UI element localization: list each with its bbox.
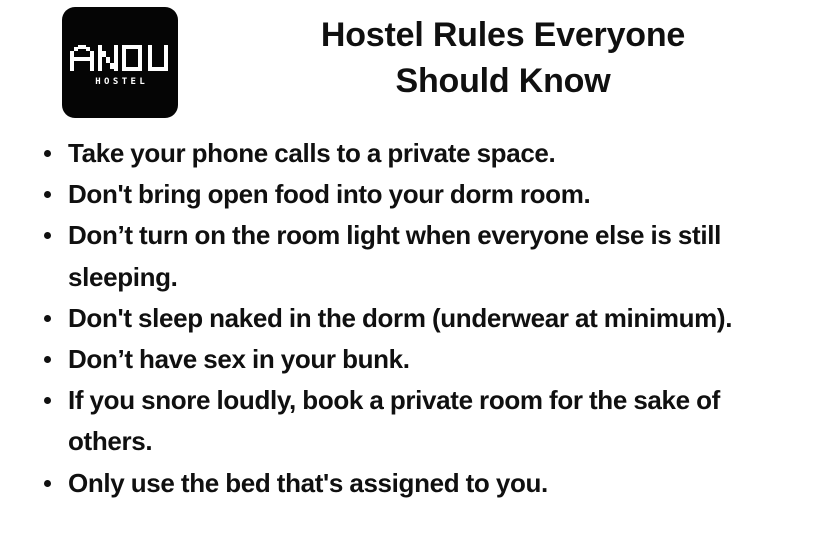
rule-text: Don't bring open food into your dorm roo… xyxy=(68,174,810,215)
rule-list-item: Only use the bed that's assigned to you. xyxy=(40,463,810,504)
anou-hostel-logo: HOSTEL xyxy=(62,7,178,118)
rule-text: Don't sleep naked in the dorm (underwear… xyxy=(68,298,810,339)
page-title-line-1: Hostel Rules Everyone xyxy=(186,12,820,58)
bullet-icon xyxy=(44,150,51,157)
rule-text: Take your phone calls to a private space… xyxy=(68,133,810,174)
rule-text: If you snore loudly, book a private room… xyxy=(68,380,810,462)
bullet-icon xyxy=(44,315,51,322)
rule-list-item: If you snore loudly, book a private room… xyxy=(40,380,810,462)
bullet-icon xyxy=(44,356,51,363)
bullet-icon xyxy=(44,232,51,239)
rule-list-item: Take your phone calls to a private space… xyxy=(40,133,810,174)
bullet-icon xyxy=(44,480,51,487)
anou-wordmark-icon xyxy=(70,45,170,71)
rule-text: Don’t have sex in your bunk. xyxy=(68,339,810,380)
page-title-line-2: Should Know xyxy=(186,58,820,104)
page-title: Hostel Rules Everyone Should Know xyxy=(186,12,820,104)
header: HOSTEL Hostel Rules Everyone Should Know xyxy=(0,0,820,126)
logo-subtitle: HOSTEL xyxy=(92,78,148,87)
bullet-icon xyxy=(44,397,51,404)
rule-text: Don’t turn on the room light when everyo… xyxy=(68,215,810,297)
bullet-icon xyxy=(44,191,51,198)
rule-text: Only use the bed that's assigned to you. xyxy=(68,463,810,504)
rule-list-item: Don’t have sex in your bunk. xyxy=(40,339,810,380)
rule-list-item: Don't sleep naked in the dorm (underwear… xyxy=(40,298,810,339)
rule-list-item: Don't bring open food into your dorm roo… xyxy=(40,174,810,215)
rules-list: Take your phone calls to a private space… xyxy=(40,133,810,504)
rule-list-item: Don’t turn on the room light when everyo… xyxy=(40,215,810,297)
